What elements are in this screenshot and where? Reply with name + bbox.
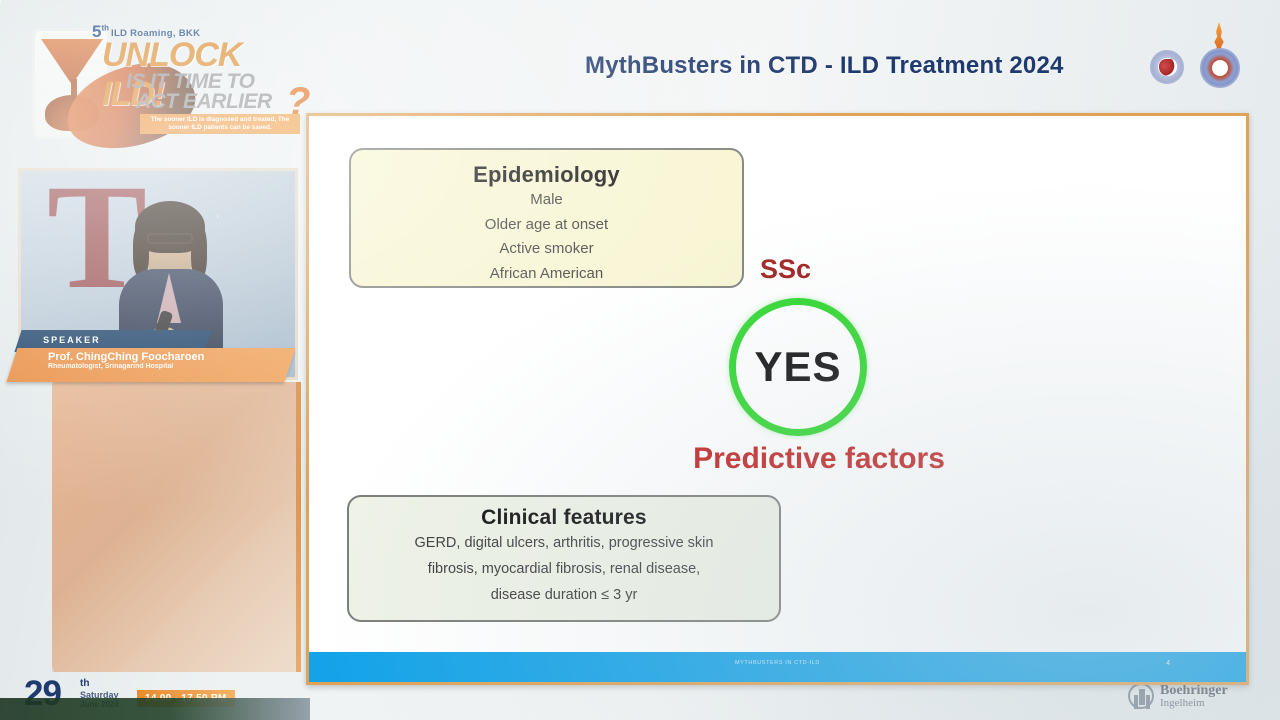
- organizer-logos: [1150, 16, 1262, 94]
- clinical-features-title: Clinical features: [349, 506, 779, 530]
- event-logo: 5th ILD Roaming, BKK UNLOCK ILD! IS IT T…: [18, 14, 300, 144]
- glasses-icon: [147, 233, 193, 244]
- answer-badge: YES: [729, 298, 867, 436]
- disease-label: SSc: [760, 254, 811, 285]
- backdrop-sparkle: [217, 215, 287, 335]
- speaker-name: Prof. ChingChing Foocharoen: [48, 351, 292, 363]
- royal-college-logo: [1200, 48, 1240, 88]
- event-title-line3: ACT EARLIER: [136, 90, 272, 114]
- slide-footer-caption: MYTHBUSTERS IN CTD-ILD: [309, 660, 1246, 666]
- sponsor-mark-icon: [1128, 683, 1154, 709]
- presentation-slide: Epidemiology Male Older age at onset Act…: [306, 113, 1249, 685]
- event-subtitle: The sooner ILD is diagnosed and treated,…: [140, 114, 300, 134]
- epidemiology-box: Epidemiology Male Older age at onset Act…: [349, 148, 744, 288]
- predictive-factors-label: Predictive factors: [654, 442, 984, 476]
- lower-left-panel-edge: [296, 382, 301, 672]
- clinical-features-line: disease duration ≤ 3 yr: [349, 582, 779, 608]
- slide-footer: MYTHBUSTERS IN CTD-ILD 4: [309, 652, 1246, 682]
- clinical-features-box: Clinical features GERD, digital ulcers, …: [347, 495, 781, 622]
- clinical-features-line: fibrosis, myocardial fibrosis, renal dis…: [349, 556, 779, 582]
- epidemiology-item: Male: [351, 188, 742, 213]
- thoracic-society-logo: [1150, 50, 1184, 84]
- date-ordinal: th: [80, 678, 89, 689]
- page-title: MythBusters in CTD - ILD Treatment 2024: [585, 52, 1145, 80]
- clinical-features-line: GERD, digital ulcers, arthritis, progres…: [349, 530, 779, 556]
- answer-text: YES: [754, 343, 841, 391]
- epidemiology-title: Epidemiology: [351, 162, 742, 188]
- slide-page-number: 4: [1166, 660, 1170, 667]
- sponsor-logo: Boehringer Ingelheim: [1128, 680, 1264, 714]
- bottom-strip: [0, 698, 310, 720]
- epidemiology-item: Active smoker: [351, 237, 742, 262]
- backdrop-letter: T: [47, 185, 119, 335]
- sponsor-name-line2: Ingelheim: [1160, 697, 1205, 709]
- lower-left-panel: [52, 382, 300, 672]
- speaker-name-banner: Prof. ChingChing Foocharoen Rheumatologi…: [6, 348, 295, 382]
- speaker-role: Rheumatologist, Srinagarind Hospital: [48, 363, 292, 370]
- epidemiology-item: Older age at onset: [351, 213, 742, 238]
- broadcast-stage: 5th ILD Roaming, BKK UNLOCK ILD! IS IT T…: [0, 0, 1280, 720]
- epidemiology-item: African American: [351, 262, 742, 287]
